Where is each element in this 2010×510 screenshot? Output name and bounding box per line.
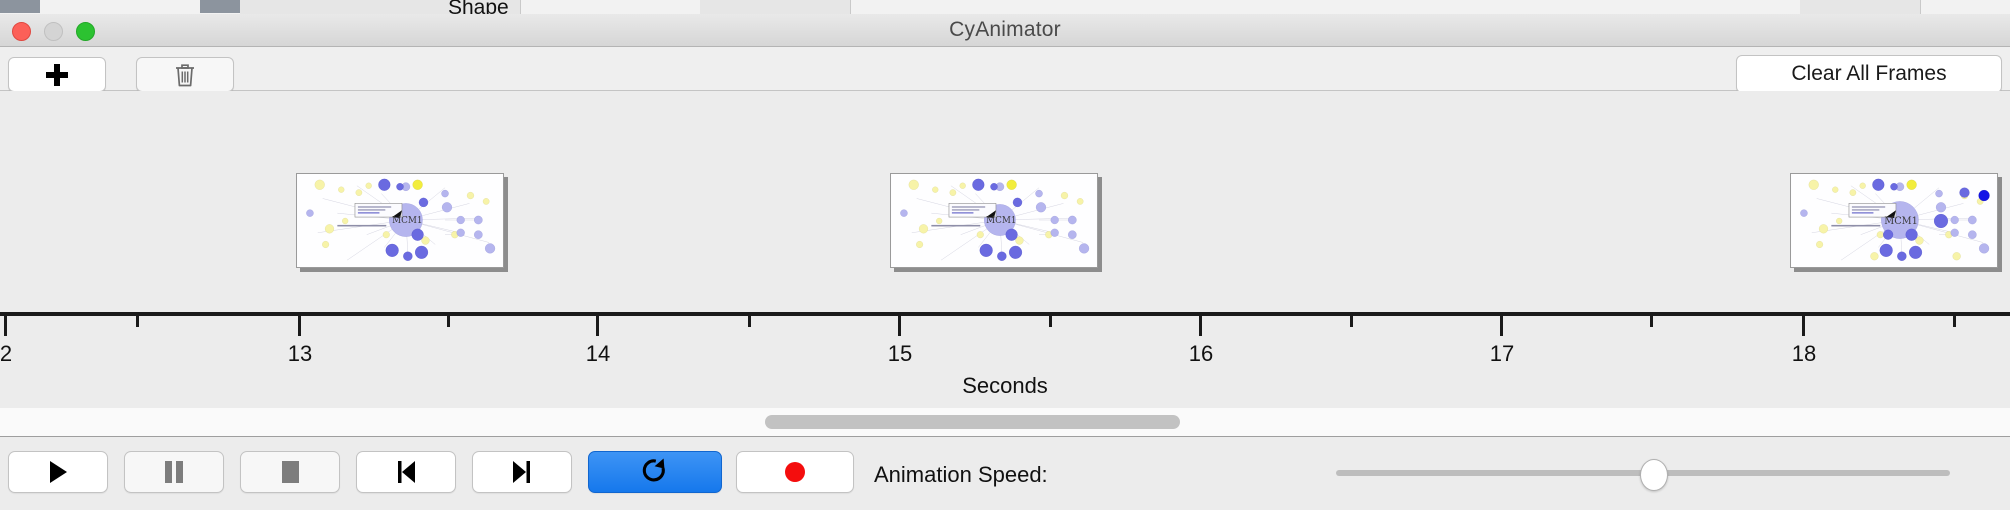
- delete-frame-button[interactable]: [136, 57, 234, 92]
- stop-button[interactable]: [240, 451, 340, 493]
- ruler-label: 17: [1490, 341, 1514, 367]
- ruler-tick-minor: [136, 316, 139, 327]
- ruler-tick-minor: [1049, 316, 1052, 327]
- ruler-tick-major: [1802, 316, 1805, 336]
- timeline-scrollbar[interactable]: [0, 408, 2010, 437]
- ruler-tick-major: [1199, 316, 1202, 336]
- skip-end-icon: [510, 459, 534, 485]
- ruler-tick-minor: [1350, 316, 1353, 327]
- cyanimator-window: Shape CyAnimator Clear All Frames: [0, 0, 2010, 510]
- network-thumbnail-image: MCM1: [297, 174, 503, 267]
- background-tab: [1800, 0, 1921, 14]
- window-title: CyAnimator: [0, 18, 2010, 42]
- ruler-tick-major: [298, 316, 301, 336]
- ruler-tick-minor: [1650, 316, 1653, 327]
- background-window-strip: Shape: [0, 0, 2010, 15]
- background-tab: [240, 0, 321, 14]
- frame-toolbar: Clear All Frames: [0, 47, 2010, 91]
- svg-text:MCM1: MCM1: [986, 216, 1016, 226]
- scrollbar-thumb[interactable]: [765, 415, 1180, 429]
- svg-text:MCM1: MCM1: [1884, 216, 1918, 227]
- pause-icon: [162, 459, 186, 485]
- background-dark-chip: [200, 0, 240, 13]
- ruler-label: 2: [0, 341, 12, 367]
- record-button[interactable]: [736, 451, 854, 493]
- timeline-panel[interactable]: MCM1: [0, 91, 2010, 409]
- network-thumbnail-image: MCM1: [891, 174, 1097, 267]
- pause-button[interactable]: [124, 451, 224, 493]
- svg-text:MCM1: MCM1: [392, 216, 422, 226]
- background-tab: [700, 0, 851, 14]
- frame-thumbnail[interactable]: MCM1: [296, 173, 504, 268]
- frame-thumbnail[interactable]: MCM1: [890, 173, 1098, 268]
- loop-button[interactable]: [588, 451, 722, 493]
- ruler-tick-major: [596, 316, 599, 336]
- ruler-label: 14: [586, 341, 610, 367]
- loop-icon: [641, 457, 669, 487]
- clear-all-frames-label: Clear All Frames: [1791, 62, 1946, 86]
- record-icon: [782, 459, 808, 485]
- trash-icon: [174, 62, 196, 88]
- ruler-tick-minor: [447, 316, 450, 327]
- ruler-tick-minor: [1953, 316, 1956, 327]
- frame-thumbnail[interactable]: MCM1: [1790, 173, 1998, 268]
- timeline-ruler: [0, 312, 2010, 316]
- playback-controls: Animation Speed:: [0, 437, 2010, 510]
- animation-speed-slider-thumb[interactable]: [1640, 459, 1668, 491]
- ruler-tick-major: [4, 316, 7, 336]
- ruler-tick-major: [1500, 316, 1503, 336]
- animation-speed-label: Animation Speed:: [874, 462, 1048, 488]
- add-frame-button[interactable]: [8, 57, 106, 92]
- skip-to-end-button[interactable]: [472, 451, 572, 493]
- plus-icon: [44, 62, 70, 88]
- ruler-tick-minor: [748, 316, 751, 327]
- stop-icon: [278, 459, 302, 485]
- timeline-axis-title: Seconds: [0, 373, 2010, 399]
- ruler-label: 15: [888, 341, 912, 367]
- title-bar: CyAnimator: [0, 14, 2010, 47]
- skip-to-start-button[interactable]: [356, 451, 456, 493]
- clear-all-frames-button[interactable]: Clear All Frames: [1736, 55, 2002, 93]
- ruler-label: 13: [288, 341, 312, 367]
- skip-start-icon: [394, 459, 418, 485]
- network-thumbnail-image: MCM1: [1791, 174, 1997, 267]
- ruler-label: 16: [1189, 341, 1213, 367]
- background-dark-chip: [0, 0, 40, 13]
- ruler-tick-major: [898, 316, 901, 336]
- background-tab: [320, 0, 411, 14]
- ruler-label: 18: [1792, 341, 1816, 367]
- play-button[interactable]: [8, 451, 108, 493]
- play-icon: [47, 459, 69, 485]
